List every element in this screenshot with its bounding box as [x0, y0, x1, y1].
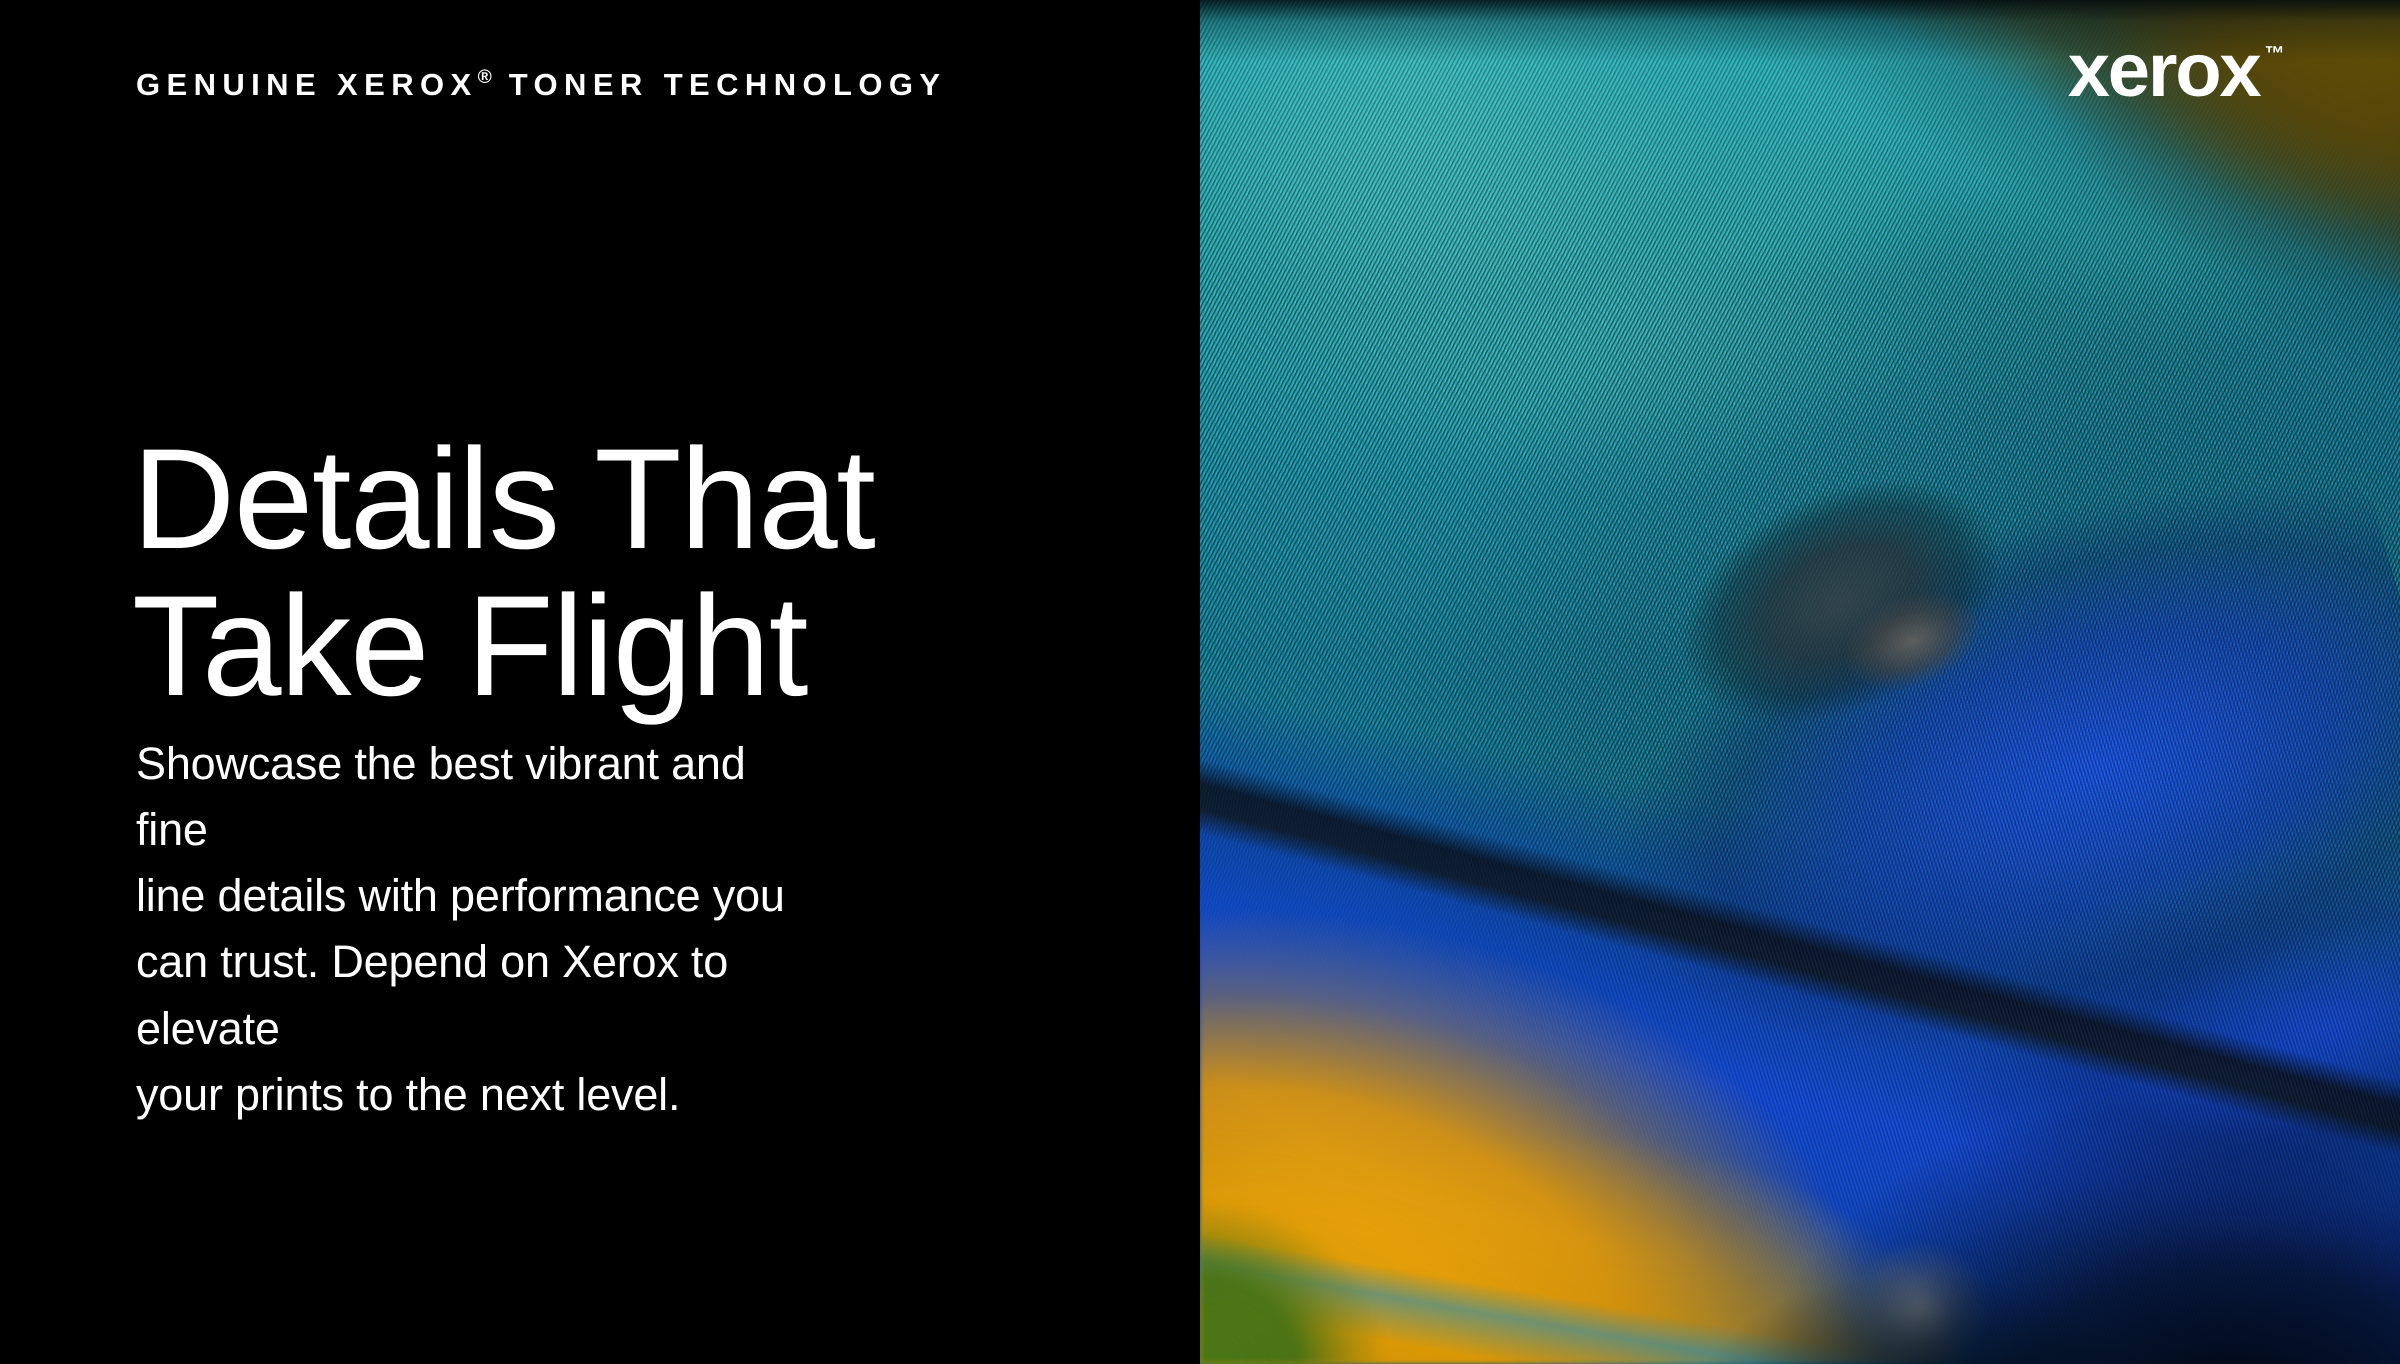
text-panel: GENUINE XEROX® TONER TECHNOLOGY Details … [0, 0, 1200, 1364]
xerox-wordmark: xerox [2068, 36, 2260, 106]
marketing-slide: xerox ™ GENUINE XEROX® TONER TECHNOLOGY … [0, 0, 2400, 1364]
trademark-icon: ™ [2265, 44, 2286, 64]
body-paragraph: Showcase the best vibrant and fine line … [136, 731, 796, 1128]
xerox-logo[interactable]: xerox ™ [2068, 36, 2285, 106]
registered-trademark-icon: ® [478, 67, 494, 88]
eyebrow-text-after: TONER TECHNOLOGY [494, 67, 947, 102]
photo-vignette [1200, 0, 2400, 1364]
page-title: Details That Take Flight [132, 426, 874, 721]
eyebrow-heading: GENUINE XEROX® TONER TECHNOLOGY [136, 68, 946, 100]
macaw-feather-photo [1200, 0, 2400, 1364]
eyebrow-text-before: GENUINE XEROX [136, 67, 478, 102]
